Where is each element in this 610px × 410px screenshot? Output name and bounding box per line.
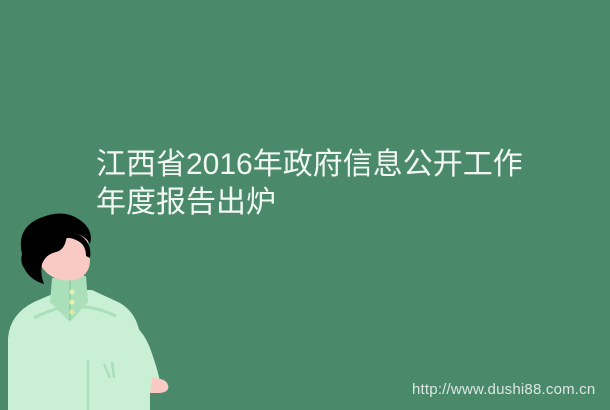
button: [69, 289, 74, 294]
article-banner-image: 江西省2016年政府信息公开工作年度报告出炉 http://www.dushi8…: [0, 0, 610, 410]
hand: [150, 378, 168, 393]
button: [69, 309, 74, 314]
button: [69, 299, 74, 304]
watermark-url: http://www.dushi88.com.cn: [412, 381, 595, 399]
flat-person-illustration: [0, 210, 190, 410]
page-title: 江西省2016年政府信息公开工作年度报告出炉: [96, 146, 526, 222]
